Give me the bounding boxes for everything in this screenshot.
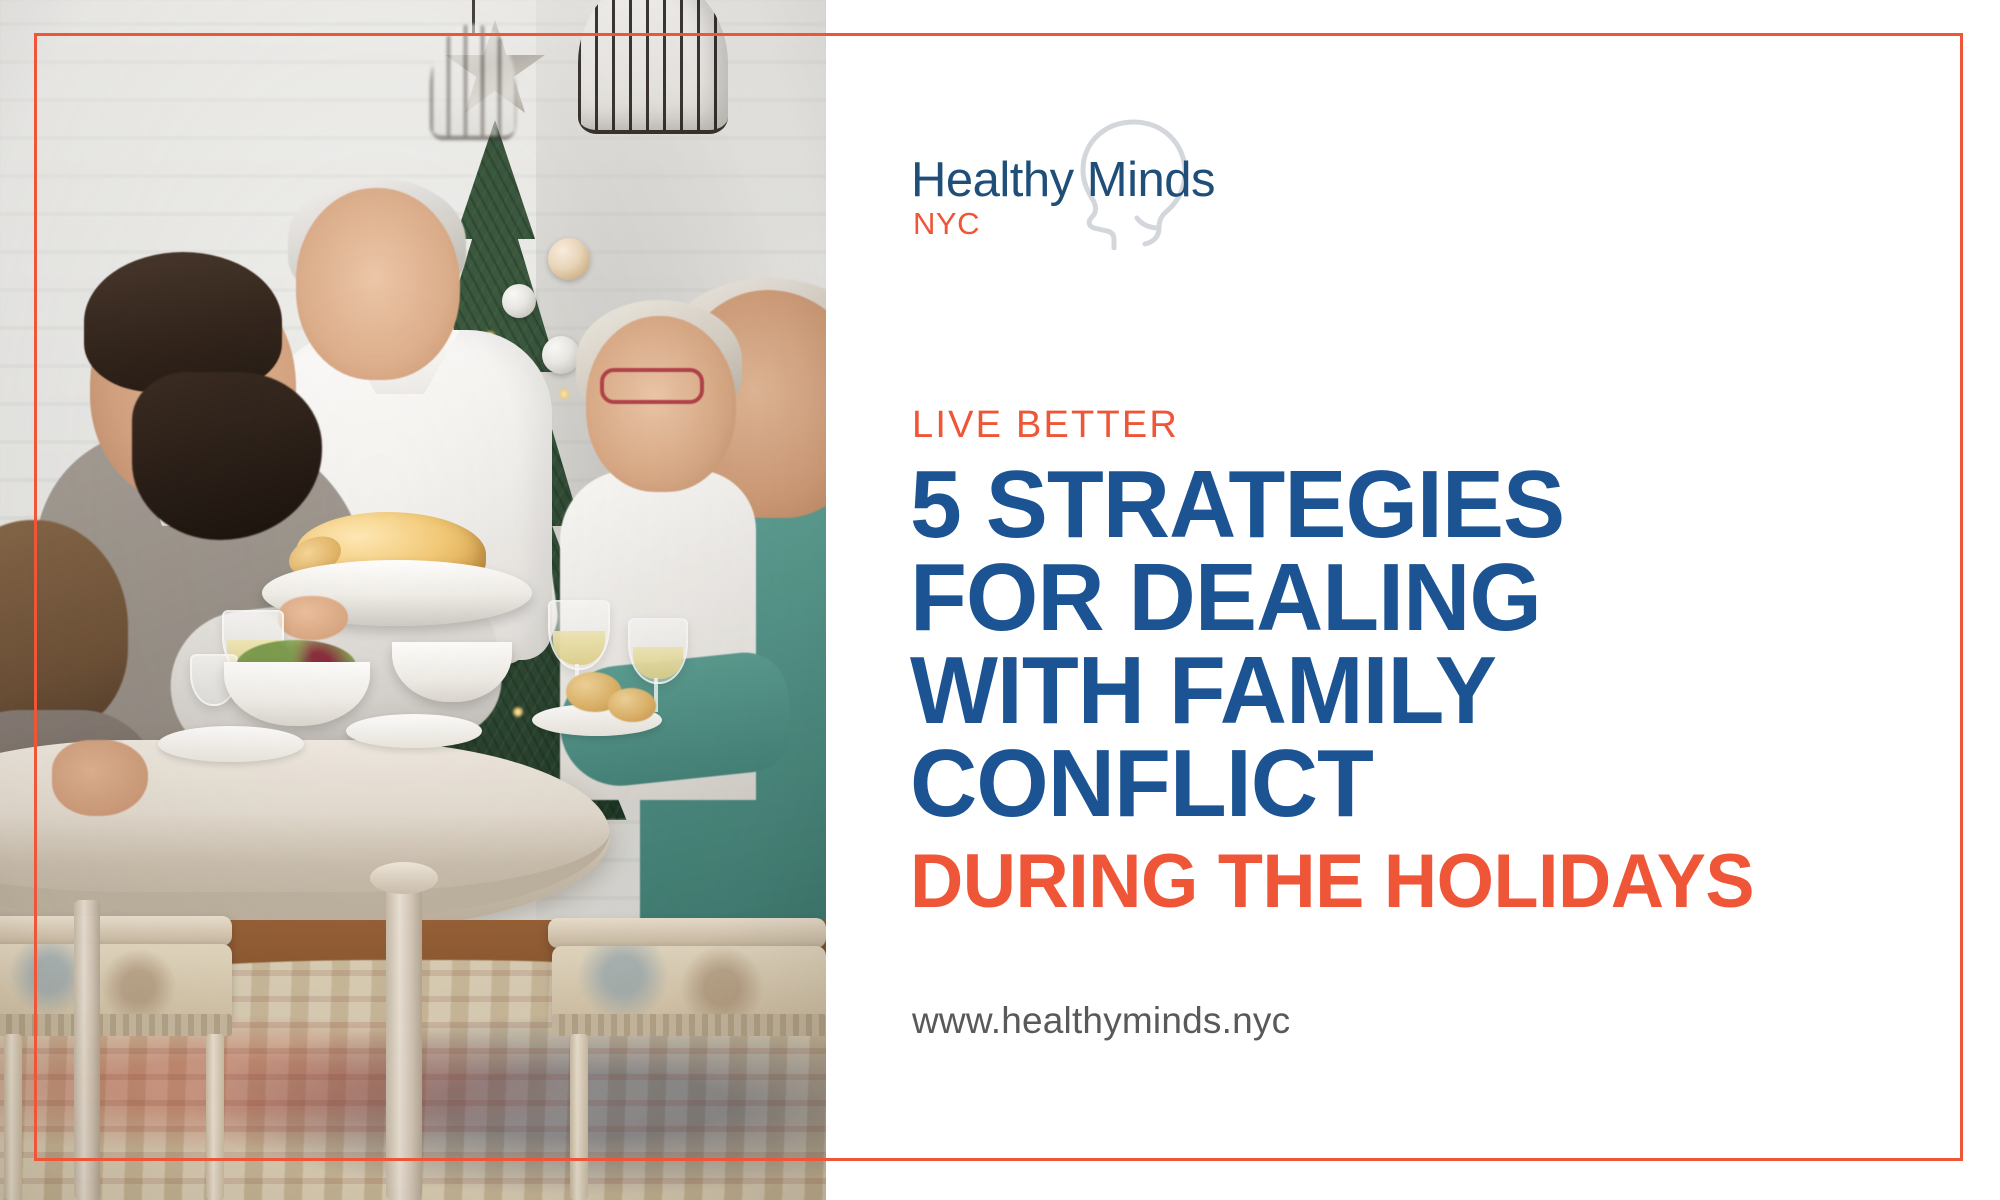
person-woman-glasses-head xyxy=(586,316,736,492)
content-panel: Healthy Minds NYC LIVE BETTER 5 STRATEGI… xyxy=(826,0,2000,1200)
person-bearded-man-hair xyxy=(84,252,282,392)
table-pedestal-leg xyxy=(386,872,422,1200)
person-server-head xyxy=(296,188,460,380)
eyeglasses-icon xyxy=(600,368,704,404)
pendant-lamp-icon xyxy=(578,0,728,134)
dinner-plate xyxy=(158,726,304,762)
brand-logo[interactable]: Healthy Minds NYC xyxy=(911,130,1211,250)
bread-roll xyxy=(608,688,656,722)
chair-trim xyxy=(0,1014,232,1036)
chair-trim xyxy=(552,1014,826,1036)
chair-seat xyxy=(0,944,232,1020)
hand-holding-platter xyxy=(278,596,348,640)
logo-wordmark: Healthy Minds xyxy=(911,152,1215,208)
table-pedestal-cap xyxy=(370,862,438,894)
chair-leg xyxy=(570,1034,588,1200)
social-graphic-canvas: Healthy Minds NYC LIVE BETTER 5 STRATEGI… xyxy=(0,0,2000,1200)
ornament-bauble-gold xyxy=(548,238,590,280)
string-light xyxy=(512,706,524,718)
logo-submark: NYC xyxy=(913,206,980,242)
headline-line-4: CONFLICT xyxy=(910,737,1938,830)
string-light xyxy=(558,388,570,400)
headline-line-5: DURING THE HOLIDAYS xyxy=(910,830,1938,928)
headline-line-3: WITH FAMILY xyxy=(910,644,1938,737)
chair-seat xyxy=(552,946,826,1020)
eyebrow-label: LIVE BETTER xyxy=(912,404,1179,447)
ornament-bauble xyxy=(542,336,580,374)
ornament-bauble xyxy=(502,284,536,318)
headline-line-2: FOR DEALING xyxy=(910,551,1938,644)
chair-back xyxy=(548,918,826,948)
table-leg xyxy=(74,900,100,1200)
chair-leg xyxy=(4,1034,22,1200)
website-url[interactable]: www.healthyminds.nyc xyxy=(912,1000,1290,1042)
chair-leg xyxy=(206,1034,224,1200)
hero-photo xyxy=(0,0,826,1200)
dinner-plate xyxy=(346,714,482,748)
child-hand xyxy=(52,740,148,816)
chair-back xyxy=(0,916,232,946)
pendant-lamp-icon xyxy=(430,24,516,140)
page-title: 5 STRATEGIES FOR DEALING WITH FAMILY CON… xyxy=(910,458,1970,928)
headline-line-1: 5 STRATEGIES xyxy=(910,458,1938,551)
